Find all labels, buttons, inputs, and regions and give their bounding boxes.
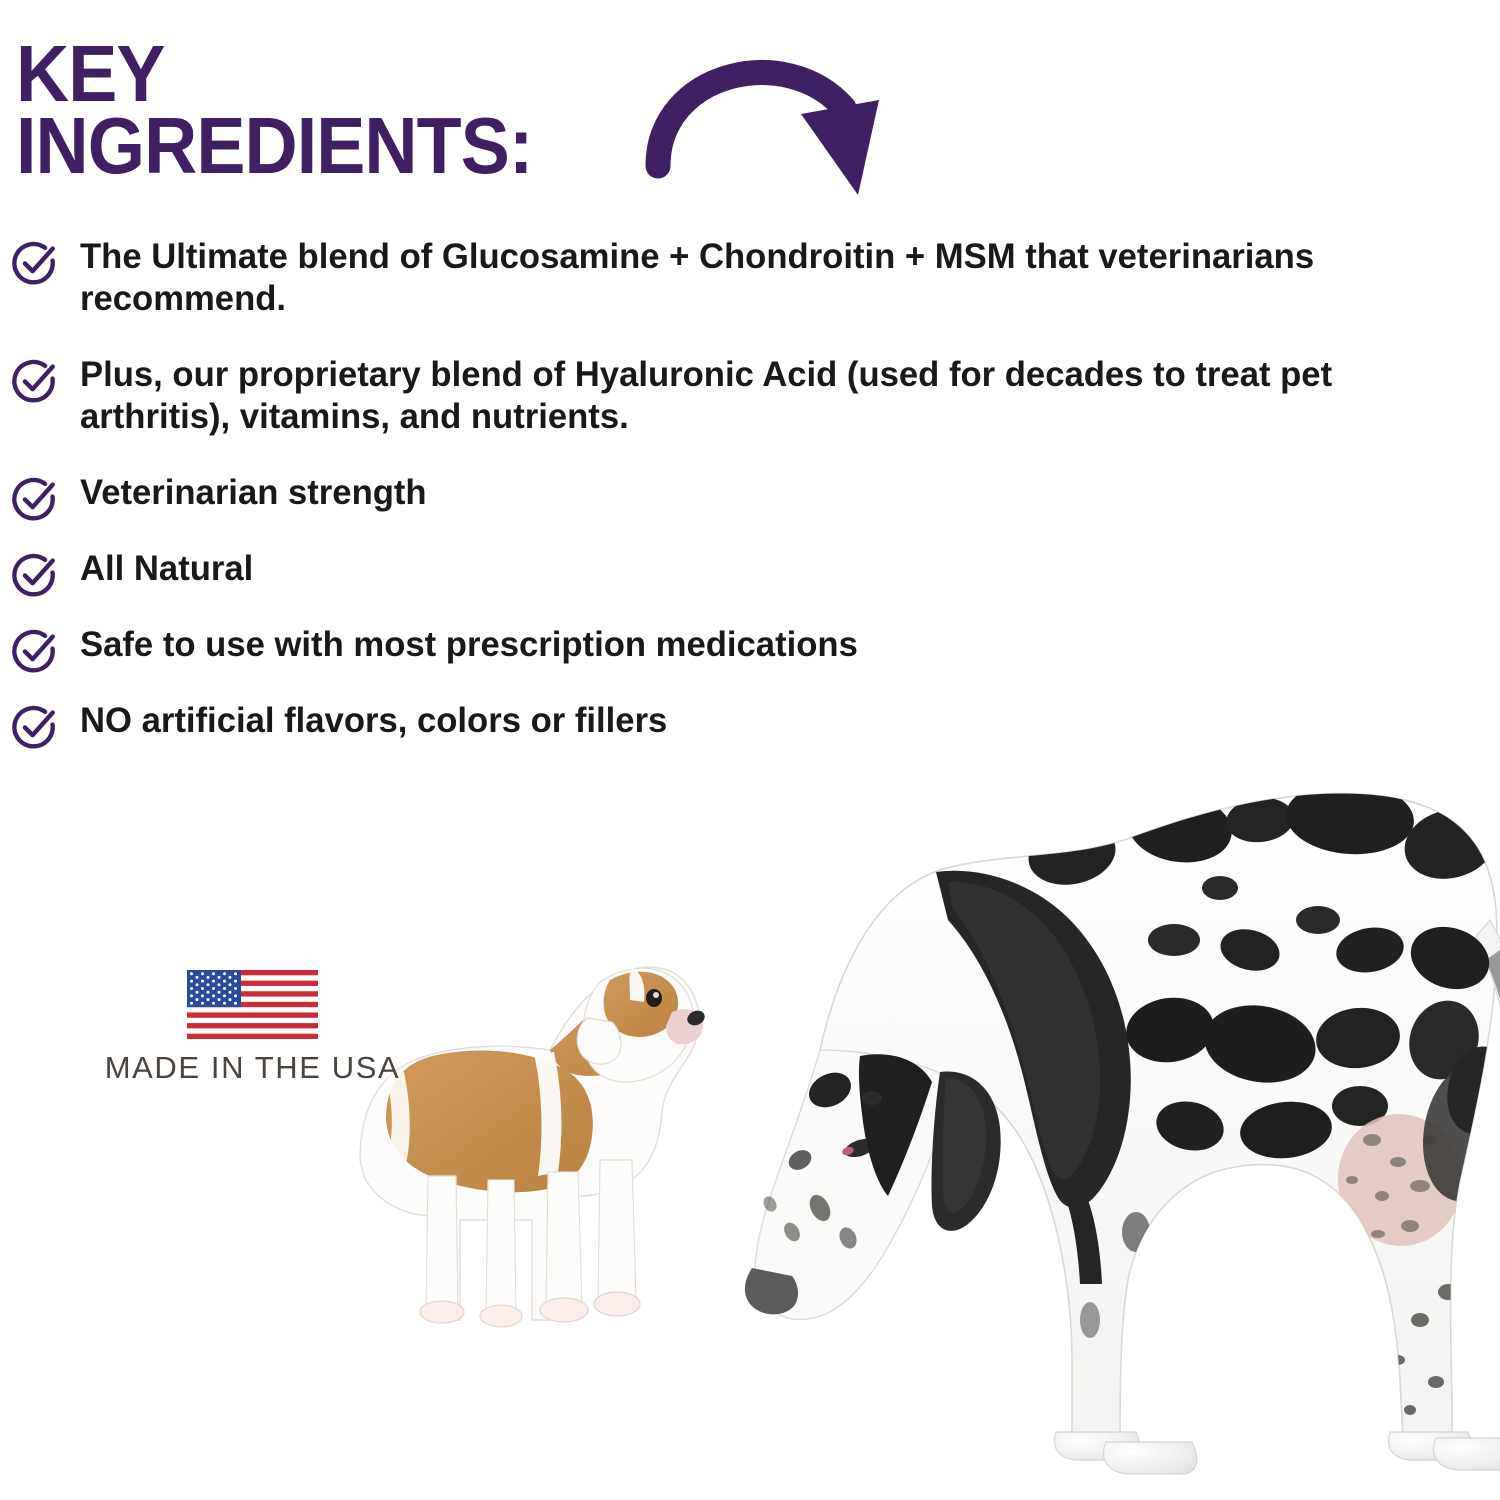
list-item: NO artificial flavors, colors or fillers	[12, 700, 1412, 750]
made-in-usa-badge: MADE IN THE USA	[85, 970, 420, 1086]
check-circle-icon	[12, 552, 58, 598]
page-title-line-2: INGREDIENTS:	[16, 110, 844, 182]
key-ingredients-infographic: KEY INGREDIENTS: The Ultimate blend of G…	[0, 0, 1500, 1500]
page-title-line-1: KEY	[16, 38, 844, 110]
check-circle-icon	[12, 476, 58, 522]
list-item: Safe to use with most prescription medic…	[12, 624, 1412, 674]
check-circle-icon	[12, 358, 58, 404]
check-circle-icon	[12, 628, 58, 674]
list-item-label: Plus, our proprietary blend of Hyaluroni…	[80, 354, 1399, 438]
great-dane-coat-patches	[936, 778, 1500, 1415]
check-circle-icon	[12, 240, 58, 286]
list-item: Plus, our proprietary blend of Hyaluroni…	[12, 354, 1412, 438]
great-dane-head-patches	[761, 1054, 932, 1251]
list-item-label: All Natural	[80, 548, 253, 590]
page-title: KEY INGREDIENTS:	[16, 38, 916, 208]
list-item: Veterinarian strength	[12, 472, 1412, 522]
usa-flag-icon	[187, 970, 318, 1039]
list-item: The Ultimate blend of Glucosamine + Chon…	[12, 236, 1412, 320]
list-item: All Natural	[12, 548, 1412, 598]
key-ingredients-list: The Ultimate blend of Glucosamine + Chon…	[12, 236, 1412, 776]
list-item-label: The Ultimate blend of Glucosamine + Chon…	[80, 236, 1399, 320]
made-in-usa-label: MADE IN THE USA	[85, 1050, 420, 1086]
check-circle-icon	[12, 704, 58, 750]
list-item-label: Veterinarian strength	[80, 472, 427, 514]
list-item-label: Safe to use with most prescription medic…	[80, 624, 858, 666]
great-dane-paws	[1055, 1432, 1500, 1474]
list-item-label: NO artificial flavors, colors or fillers	[80, 700, 667, 742]
great-dane	[745, 778, 1500, 1474]
